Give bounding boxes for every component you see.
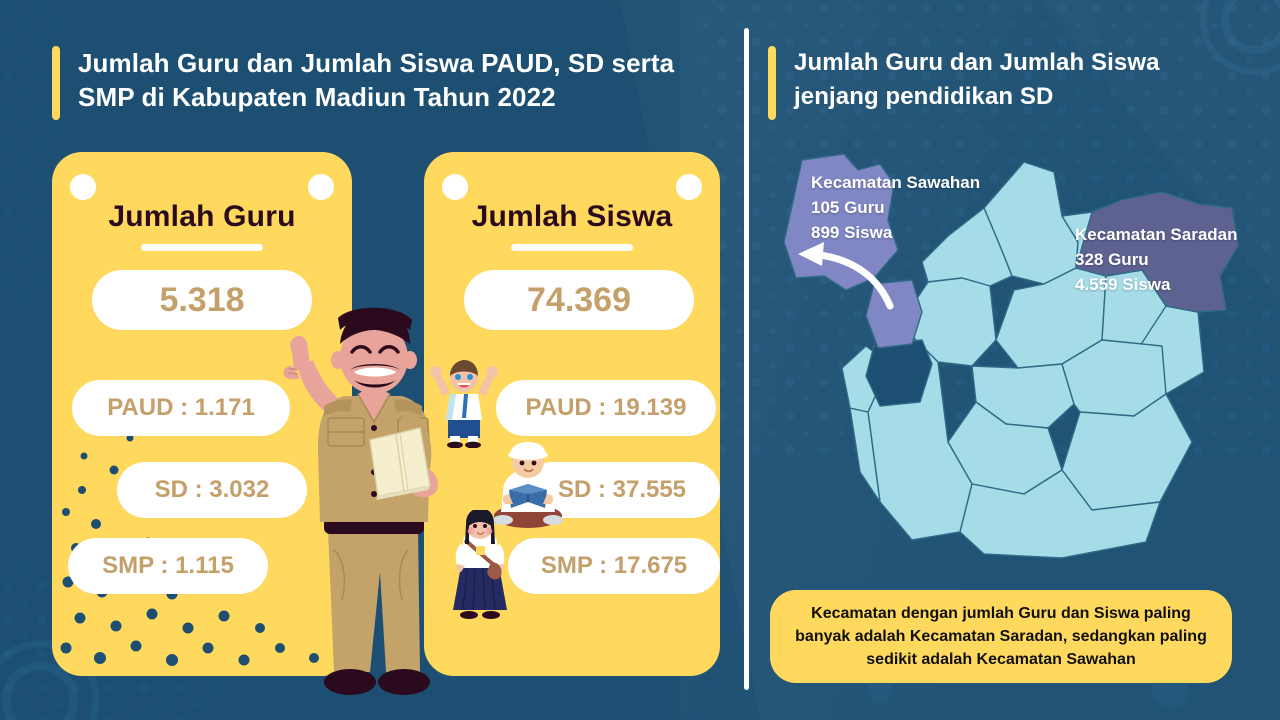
sawahan-student-count: 899 Siswa [811,220,980,245]
card-siswa-header: Jumlah Siswa [424,200,720,251]
student-smp-girl-icon [447,510,513,622]
sawahan-district-name: Kecamatan Sawahan [811,170,980,195]
saradan-student-count: 4.559 Siswa [1075,272,1238,297]
card-guru-header: Jumlah Guru [52,200,352,251]
district-sawahan-inset [866,280,922,348]
card-heading-underline [511,244,633,251]
map-summary-note: Kecamatan dengan jumlah Guru dan Siswa p… [770,590,1232,683]
card-guru-row-smp: SMP : 1.115 [68,538,268,594]
map-annotation-saradan: Kecamatan Saradan 328 Guru 4.559 Siswa [1075,222,1238,297]
right-panel-title-text: Jumlah Guru dan Jumlah Siswa jenjang pen… [794,46,1238,114]
title-accent-bar [768,46,776,120]
saradan-district-name: Kecamatan Saradan [1075,222,1238,247]
panel-divider [744,28,749,690]
left-panel-title: Jumlah Guru dan Jumlah Siswa PAUD, SD se… [52,46,712,120]
map-annotation-sawahan: Kecamatan Sawahan 105 Guru 899 Siswa [811,170,980,245]
card-hole-right [676,174,702,200]
card-siswa-row-smp: SMP : 17.675 [508,538,720,594]
card-heading-underline [141,244,263,251]
card-hole-left [442,174,468,200]
sawahan-teacher-count: 105 Guru [811,195,980,220]
saradan-teacher-count: 328 Guru [1075,247,1238,272]
district-dark-patch [866,340,932,406]
card-siswa-row-paud: PAUD : 19.139 [496,380,716,436]
card-siswa-total: 74.369 [464,270,694,330]
card-guru-heading: Jumlah Guru [52,200,352,234]
card-hole-right [308,174,334,200]
right-panel-title: Jumlah Guru dan Jumlah Siswa jenjang pen… [768,46,1238,120]
card-hole-left [70,174,96,200]
student-paud-cheering-icon [428,358,500,448]
left-panel-title-text: Jumlah Guru dan Jumlah Siswa PAUD, SD se… [78,46,712,114]
card-siswa-heading: Jumlah Siswa [424,200,720,234]
title-accent-bar [52,46,60,120]
